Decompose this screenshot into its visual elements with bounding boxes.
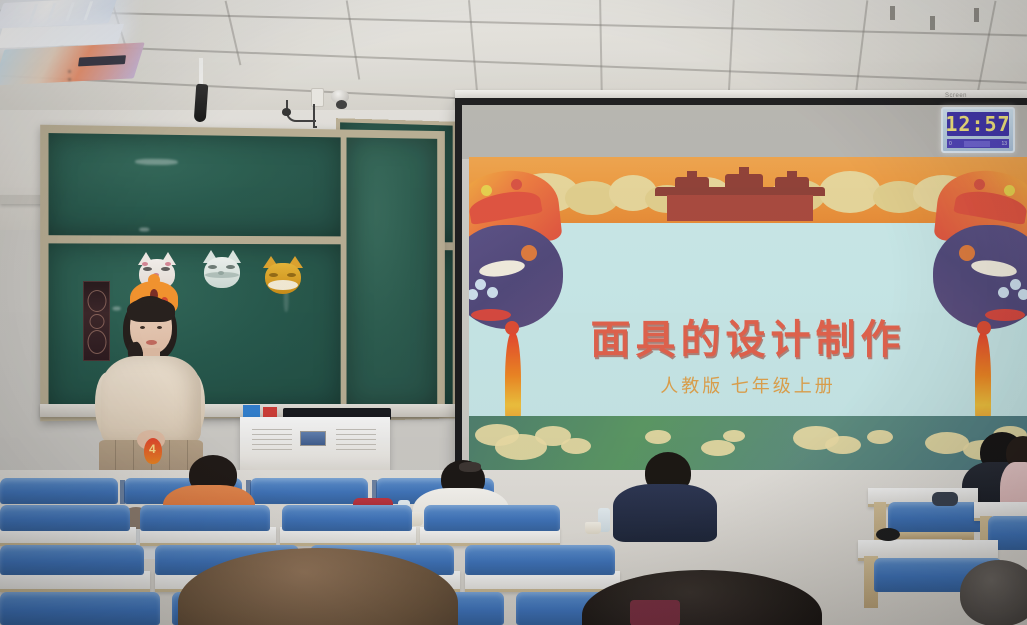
wall-socket-icon xyxy=(282,108,291,116)
seat-row-3 xyxy=(0,505,560,535)
cat-mask-white-gray xyxy=(201,250,243,290)
lectern xyxy=(240,417,390,473)
hanging-microphone-icon xyxy=(195,58,207,120)
slide-title: 面具的设计制作 xyxy=(469,307,1027,365)
clock-left-marker: 0 xyxy=(949,141,952,147)
foreground-head-dark xyxy=(582,570,822,625)
fox-mask-gold xyxy=(262,256,304,296)
desk-object xyxy=(876,528,900,541)
student-gray-hair xyxy=(960,560,1027,625)
phone-in-hand xyxy=(630,600,680,625)
clock-right-marker: 13 xyxy=(1001,141,1007,147)
clock-time: 12:57 xyxy=(945,114,1010,134)
paper-cup xyxy=(585,522,601,534)
podium-control-screen[interactable] xyxy=(300,431,326,446)
presentation-slide: 面具的设计制作 人教版 七年级上册 xyxy=(469,157,1027,480)
classroom-photo: 4 Screen xyxy=(0,0,1027,625)
prop-label: 4 xyxy=(149,443,156,455)
slide-subtitle: 人教版 七年级上册 xyxy=(469,372,1027,398)
handheld-mask-prop: 4 xyxy=(144,438,162,464)
foreground-head-brown xyxy=(178,548,458,625)
wall-cable xyxy=(313,104,317,128)
digital-wall-clock: 12:57 0 13 xyxy=(941,107,1015,153)
camera-lens-icon xyxy=(336,100,347,109)
projection-screen: 面具的设计制作 人教版 七年级上册 12:57 xyxy=(455,98,1027,498)
blue-pouch xyxy=(932,492,958,506)
projector xyxy=(0,42,145,85)
